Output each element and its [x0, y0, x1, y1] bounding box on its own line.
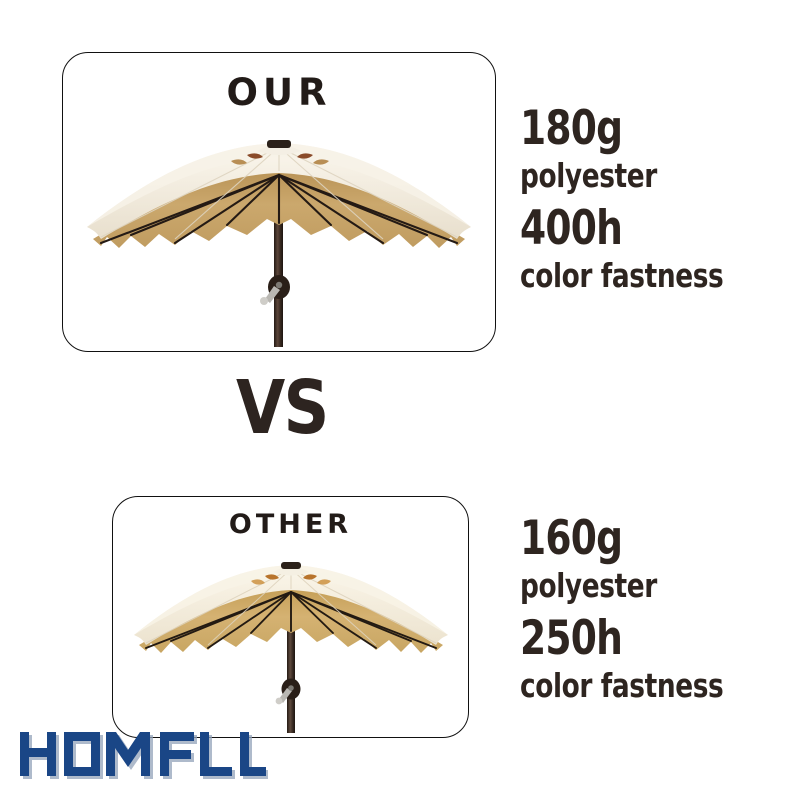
panel-title-our: OUR: [63, 71, 495, 114]
spec-label-weight-our: polyester: [520, 154, 723, 197]
spec-value-fastness-other: 250h: [520, 614, 723, 664]
spec-list-our: 180g polyester 400h color fastness: [520, 104, 774, 297]
spec-value-weight-other: 160g: [520, 514, 723, 564]
brand-logo-homful: HOMFUL: [18, 728, 268, 784]
umbrella-image-other: [121, 543, 463, 733]
spec-label-fastness-our: color fastness: [520, 254, 723, 297]
spec-value-weight-our: 180g: [520, 104, 723, 154]
panel-title-other: OTHER: [113, 509, 468, 540]
comparison-infographic: OUR: [0, 0, 800, 800]
spec-list-other: 160g polyester 250h color fastness: [520, 514, 774, 707]
spec-label-fastness-other: color fastness: [520, 664, 723, 707]
versus-label: VS: [236, 371, 328, 445]
product-panel-other: OTHER: [112, 496, 469, 738]
product-panel-our: OUR: [62, 52, 496, 352]
spec-label-weight-other: polyester: [520, 564, 723, 607]
umbrella-image-our: [71, 115, 489, 347]
spec-value-fastness-our: 400h: [520, 204, 723, 254]
